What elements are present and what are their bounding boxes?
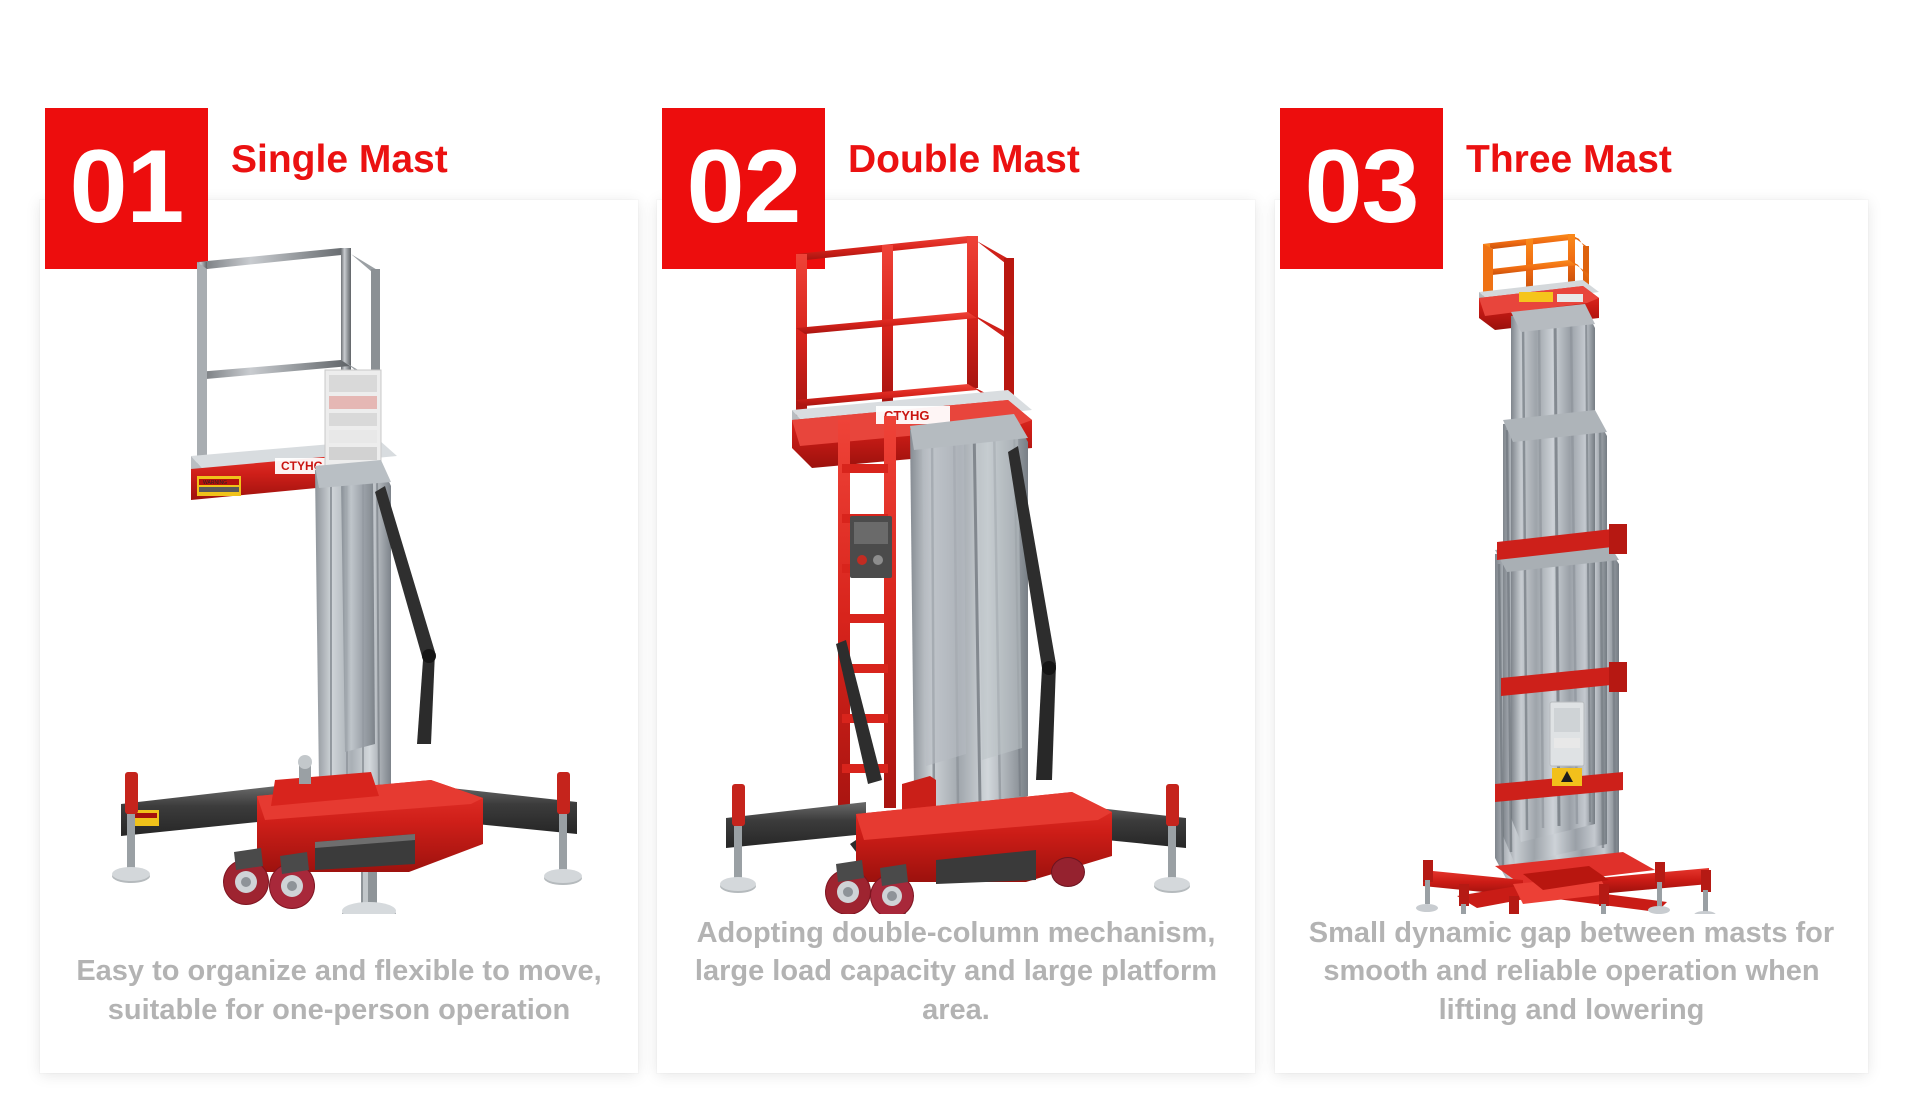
product-card-three-mast[interactable]: 03 Three Mast (1275, 200, 1868, 1073)
three-mast-illustration (1337, 224, 1807, 914)
single-mast-lift-image: WARNING CTYHG (40, 214, 638, 914)
double-mast-illustration: CTYHG (696, 224, 1216, 914)
telescopic-masts (910, 414, 1028, 824)
card-caption: Adopting double-column mechanism, large … (679, 914, 1233, 1029)
control-box (850, 516, 892, 578)
comparison-board: 01 Single Mast (0, 0, 1920, 1100)
double-mast-lift-image: CTYHG (657, 214, 1255, 914)
card-title: Single Mast (231, 138, 448, 182)
telescopic-mast (315, 460, 391, 809)
card-title: Double Mast (848, 138, 1080, 182)
product-card-double-mast[interactable]: 02 Double Mast (657, 200, 1255, 1073)
svg-text:WARNING: WARNING (203, 480, 227, 486)
card-title: Three Mast (1466, 138, 1672, 182)
mast-control-decals (325, 370, 381, 466)
single-mast-illustration: WARNING CTYHG (79, 224, 599, 914)
product-card-single-mast[interactable]: 01 Single Mast (40, 200, 638, 1073)
control-box (1550, 702, 1584, 786)
card-caption: Small dynamic gap between masts for smoo… (1297, 914, 1846, 1029)
platform-guardrail (796, 236, 1014, 416)
card-caption: Easy to organize and flexible to move, s… (62, 952, 616, 1029)
three-mast-lift-image (1275, 214, 1868, 914)
